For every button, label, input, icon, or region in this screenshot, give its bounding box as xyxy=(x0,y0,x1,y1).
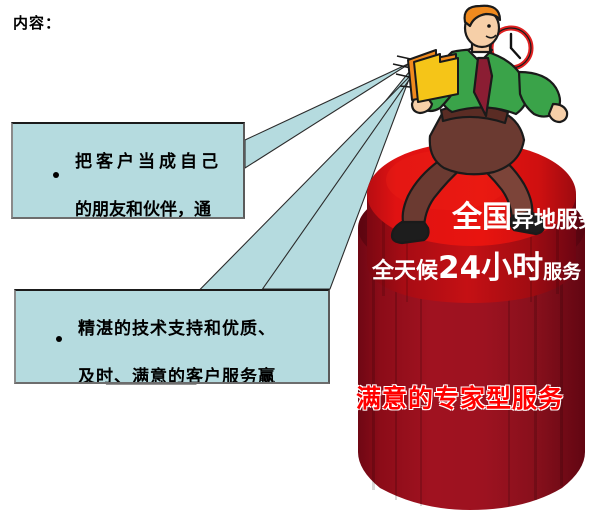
cylinder-text-allday: 全天候24小时服务 xyxy=(372,242,581,287)
callout-1-text: 把客户当成自己 的朋友和伙伴，通 xyxy=(13,124,243,219)
slide-canvas: 内容： xyxy=(0,0,601,522)
callout-1-line-1: 把客户当成自己 xyxy=(13,138,243,186)
folder-icon xyxy=(408,50,458,102)
cylinder-text-expert: 满意的专家型服务 xyxy=(356,379,564,415)
national-small: 异地服务 xyxy=(512,208,600,233)
callout-2-text: 精湛的技术支持和优质、 及时、满意的客户服务赢 xyxy=(16,291,328,384)
allday-suffix: 服务 xyxy=(543,261,581,283)
cylinder-text-national: 全国异地服务 xyxy=(452,192,600,236)
allday-prefix: 全天候 xyxy=(372,259,438,284)
callout-2-line-2: 及时、满意的客户服务赢 xyxy=(16,353,328,384)
allday-number: 24 xyxy=(438,250,481,286)
callout-box-2[interactable]: 精湛的技术支持和优质、 及时、满意的客户服务赢 xyxy=(14,289,330,384)
callout-1-line-2: 的朋友和伙伴，通 xyxy=(13,186,243,219)
callout-2-line-1: 精湛的技术支持和优质、 xyxy=(16,305,328,353)
national-big: 全国 xyxy=(452,200,512,235)
callout-box-1[interactable]: 把客户当成自己 的朋友和伙伴，通 xyxy=(11,122,245,219)
allday-mid: 小时 xyxy=(481,250,543,286)
